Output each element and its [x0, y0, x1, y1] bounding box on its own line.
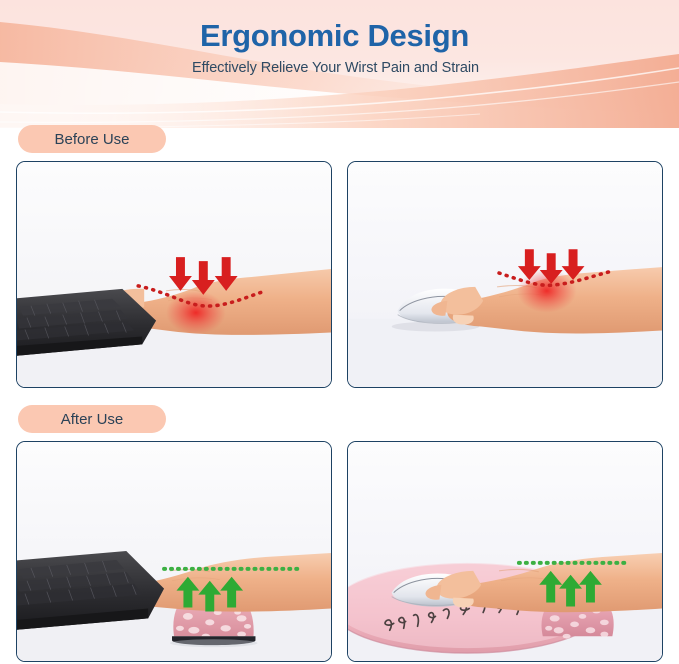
photo-panel-before-keyboard [16, 161, 332, 388]
page-subtitle: Effectively Relieve Your Wirst Pain and … [0, 60, 679, 76]
section-label-before-use-text: Before Use [54, 131, 129, 148]
photo-panel-after-keyboard [16, 441, 332, 662]
section-label-before-use: Before Use [18, 125, 166, 153]
illustration-after-keyboard [17, 442, 331, 661]
section-label-after-use: After Use [18, 405, 166, 433]
pressure-arrows-down [169, 257, 238, 295]
illustration-after-mouse [348, 442, 662, 661]
section-label-after-use-text: After Use [61, 411, 124, 428]
photo-panel-before-mouse [347, 161, 663, 388]
illustration-before-keyboard [17, 162, 331, 387]
support-arrows-up [539, 571, 602, 607]
header-banner: Ergonomic Design Effectively Relieve You… [0, 0, 679, 128]
photo-panel-after-mouse [347, 441, 663, 662]
page-title: Ergonomic Design [0, 18, 679, 54]
illustration-before-mouse [348, 162, 662, 387]
infographic-page: Ergonomic Design Effectively Relieve You… [0, 0, 679, 664]
support-arrows-up [176, 577, 243, 612]
